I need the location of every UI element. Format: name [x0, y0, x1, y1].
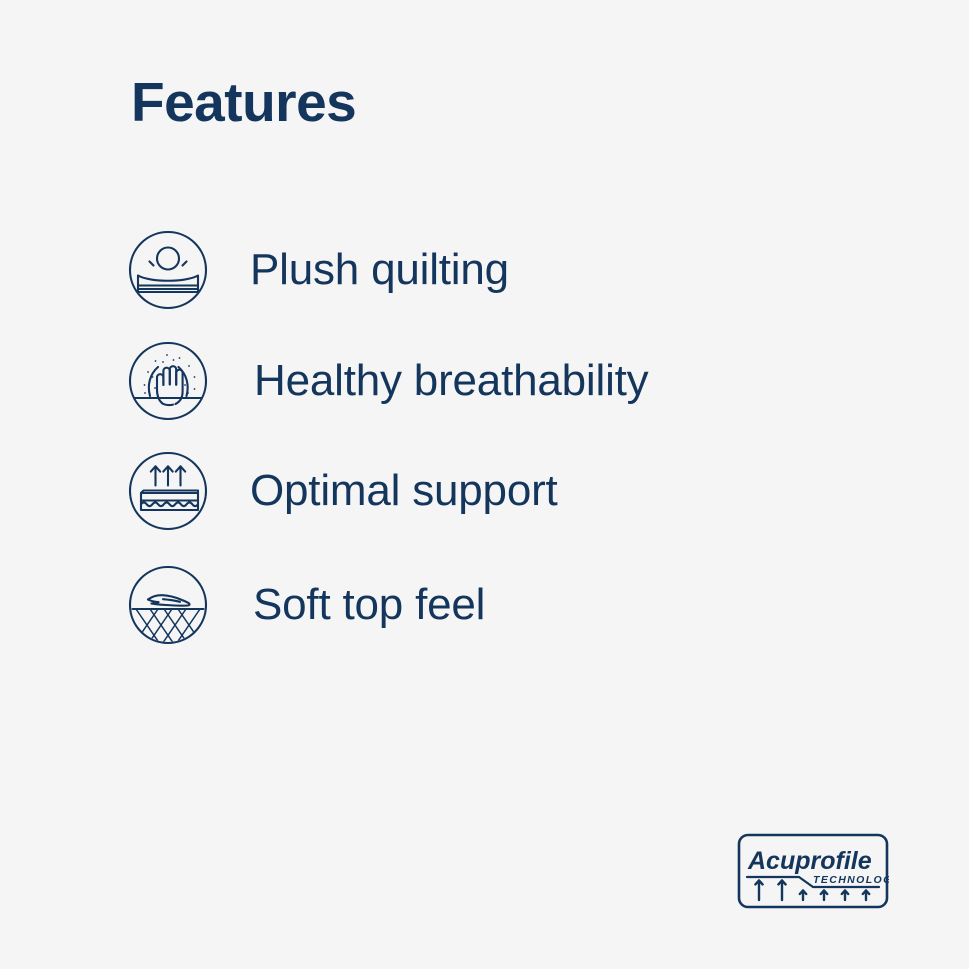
- feature-label: Soft top feel: [253, 583, 485, 627]
- feature-item-optimal-support: Optimal support: [128, 451, 558, 531]
- plush-quilting-icon: [128, 230, 208, 310]
- feature-item-plush-quilting: Plush quilting: [128, 230, 509, 310]
- soft-top-feel-hand-icon: [128, 565, 208, 645]
- feature-item-soft-top-feel: Soft top feel: [128, 565, 485, 645]
- feature-label: Healthy breathability: [254, 359, 648, 403]
- acuprofile-logo-badge: Acuprofile TECHNOLOGY: [737, 833, 889, 909]
- acuprofile-wordmark: Acuprofile: [747, 847, 872, 875]
- optimal-support-arrows-icon: [128, 451, 208, 531]
- feature-label: Plush quilting: [250, 248, 509, 292]
- breathability-hand-icon: [128, 341, 208, 421]
- feature-item-healthy-breathability: Healthy breathability: [128, 341, 648, 421]
- acuprofile-logo-icon: Acuprofile TECHNOLOGY: [737, 833, 889, 909]
- feature-label: Optimal support: [250, 469, 558, 513]
- acuprofile-subtitle: TECHNOLOGY: [813, 874, 889, 886]
- feature-panel: Features Plush quilting: [0, 0, 969, 969]
- page-title: Features: [131, 72, 356, 133]
